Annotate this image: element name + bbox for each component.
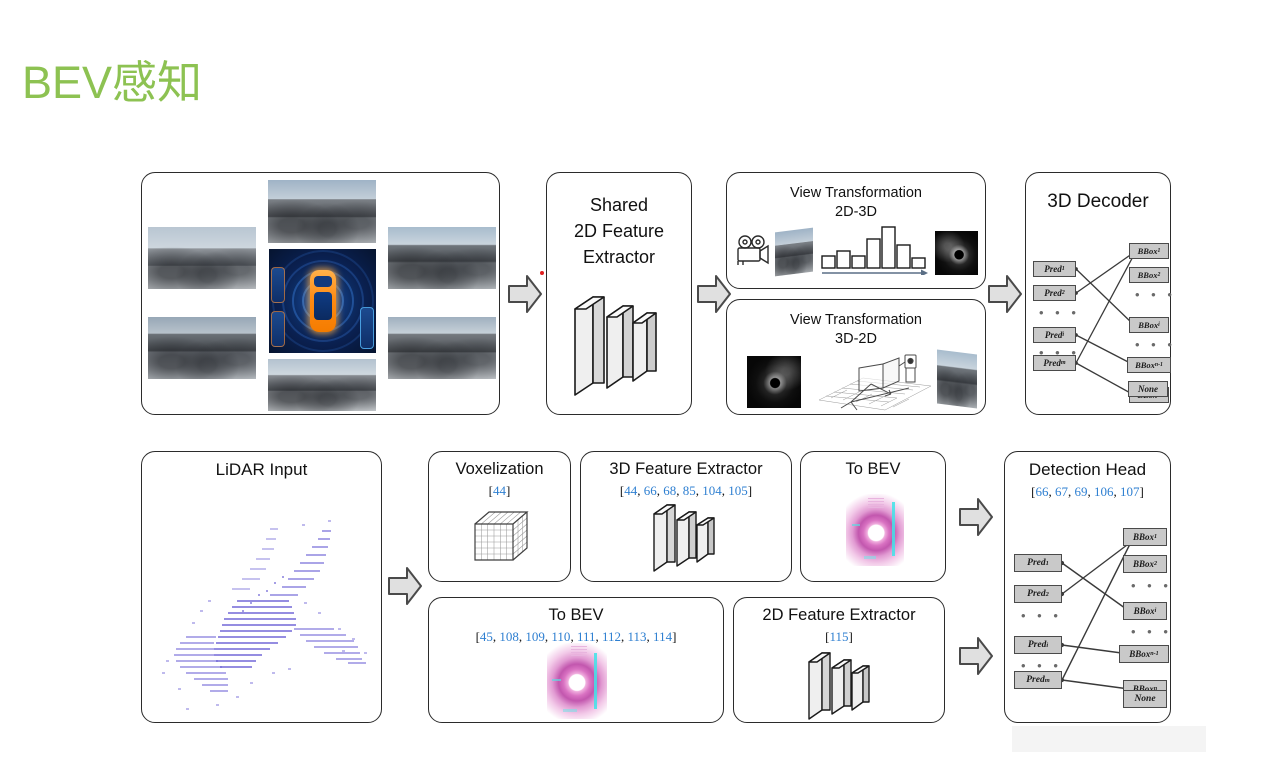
vt-2d3d-title-line1: View Transformation <box>727 185 985 201</box>
background-ghost-rectangle <box>1012 726 1206 752</box>
citation-ref[interactable]: 68 <box>663 483 676 498</box>
bbox-sub: i <box>1158 322 1160 328</box>
bev-heatmap-image <box>547 643 607 719</box>
pred-sub: 2 <box>1046 591 1049 598</box>
pred-label: Pred <box>1027 589 1045 599</box>
citation-ref[interactable]: 112 <box>602 629 621 644</box>
decoder-bbox-chip-3: BBoxi <box>1129 317 1169 333</box>
citation-ref[interactable]: 114 <box>653 629 672 644</box>
bbox-sub: 2 <box>1154 561 1157 567</box>
bbox-sub: 2 <box>1157 272 1160 278</box>
bbox-label: BBox <box>1138 320 1158 330</box>
voxelization-title: Voxelization <box>429 460 570 479</box>
to-bev-bottom-title: To BEV <box>429 606 723 625</box>
3d-decoder-box: 3D Decoder Pred1 Pred2 • • • <box>1025 172 1171 415</box>
3d-extractor-title: 3D Feature Extractor <box>581 460 791 479</box>
vt-3d2d-title-line1: View Transformation <box>727 312 985 328</box>
bbox-sub: 1 <box>1157 248 1160 254</box>
page-title: BEV感知 <box>22 60 202 105</box>
projection-frustum-diagram <box>813 350 937 417</box>
pred-sub: m <box>1045 677 1050 684</box>
camera-image-front <box>268 180 376 243</box>
bbox-label: BBox <box>1138 270 1158 280</box>
arrow-tobev-to-detectionhead <box>959 498 993 536</box>
camera-image-front-left <box>148 227 256 289</box>
2d-extractor-citations: [115] <box>734 629 944 645</box>
pred-sub: i <box>1046 642 1048 649</box>
citation-ref[interactable]: 44 <box>624 483 637 498</box>
decoder-none-chip-visible: None <box>1128 381 1168 397</box>
vt-3d2d-title-line2: 3D-2D <box>727 331 985 347</box>
view-transformation-2d3d-box: View Transformation 2D-3D <box>726 172 986 289</box>
camera-image-back <box>268 359 376 411</box>
pred-sub: 1 <box>1062 266 1065 272</box>
depth-distribution-histogram <box>821 223 929 280</box>
citation-ref[interactable]: 108 <box>499 629 519 644</box>
ego-vehicle-surround-view-graphic <box>269 249 376 353</box>
citation-ref[interactable]: 44 <box>493 483 506 498</box>
citation-ref[interactable]: 104 <box>702 483 722 498</box>
detection-bbox-ellipsis-1: • • • <box>1131 578 1172 593</box>
bbox-sub: n-1 <box>1155 362 1163 368</box>
decoder-pred-ellipsis-1: • • • <box>1039 305 1080 320</box>
pred-label: Pred <box>1044 264 1062 274</box>
2d-feature-extractor-box: 2D Feature Extractor [115] <box>733 597 945 723</box>
detection-pred-chip-1: Pred1 <box>1014 554 1062 572</box>
video-camera-icon <box>735 233 771 272</box>
decoder-bbox-chip-2: BBox2 <box>1129 267 1169 283</box>
pred-sub: i <box>1062 332 1064 338</box>
citation-ref[interactable]: 45 <box>480 629 493 644</box>
shared-2d-feature-extractor-box: Shared 2D Feature Extractor <box>546 172 692 415</box>
detection-bbox-chip-2: BBox2 <box>1123 555 1167 573</box>
decoder-pred-chip-2: Pred2 <box>1033 285 1076 301</box>
detection-pred-chip-4: Predm <box>1014 671 1062 689</box>
pred-label: Pred <box>1028 640 1046 650</box>
pred-sub: 2 <box>1062 290 1065 296</box>
detection-bbox-chip-3: BBoxi <box>1123 602 1167 620</box>
citation-ref[interactable]: 109 <box>525 629 545 644</box>
multi-camera-panel <box>141 172 500 415</box>
detection-pred-chip-3: Predi <box>1014 636 1062 654</box>
camera-image-back-right <box>388 317 496 379</box>
arrow-viewtransform-to-decoder <box>988 275 1022 313</box>
detection-none-chip: None <box>1123 690 1167 708</box>
camera-image-thumbnail <box>775 228 813 277</box>
citation-ref[interactable]: 113 <box>628 629 647 644</box>
pred-label: Pred <box>1044 288 1062 298</box>
decoder-bbox-chip-1: BBox1 <box>1129 243 1169 259</box>
bev-lidar-image-2 <box>747 356 801 408</box>
detection-bbox-chip-1: BBox1 <box>1123 528 1167 546</box>
voxelization-box: Voxelization [44] <box>428 451 571 582</box>
bbox-label: BBox <box>1138 246 1158 256</box>
decoder-bbox-ellipsis-2: • • • <box>1135 337 1176 352</box>
bbox-label: BBox <box>1134 606 1155 616</box>
bbox-sub: 1 <box>1154 534 1157 540</box>
camera-image-thumbnail-2 <box>937 350 977 409</box>
detection-pred-chip-2: Pred2 <box>1014 585 1062 603</box>
decoder-bbox-ellipsis-1: • • • <box>1135 287 1176 302</box>
arrow-2dextractor-to-detectionhead <box>959 637 993 675</box>
shared-extractor-title-line1: Shared <box>547 195 691 216</box>
pred-label: Pred <box>1043 358 1061 368</box>
arrow-cameras-to-extractor <box>508 275 542 313</box>
slide-canvas: BEV感知 Sh <box>0 0 1261 760</box>
pred-label: Pred <box>1027 558 1045 568</box>
bbox-sub: i <box>1155 608 1157 614</box>
bev-heatmap-image <box>846 494 904 566</box>
decoder-pred-chip-4: Predm <box>1033 355 1076 371</box>
citation-ref[interactable]: 111 <box>577 629 596 644</box>
cnn-layer-stack-icon <box>651 500 727 581</box>
bbox-label: BBox <box>1129 649 1150 659</box>
detection-pred-ellipsis-1: • • • <box>1021 608 1062 623</box>
shared-extractor-title-line2: 2D Feature <box>547 221 691 242</box>
cnn-layer-stack-icon <box>806 648 882 729</box>
decoder-bbox-chip-4: BBoxn-1 <box>1127 357 1171 373</box>
pred-sub: m <box>1061 360 1066 366</box>
camera-image-front-right <box>388 227 496 289</box>
camera-image-back-left <box>148 317 256 379</box>
pred-sub: 1 <box>1046 560 1049 567</box>
detection-head-box: Detection Head [66, 67, 69, 106, 107] Pr… <box>1004 451 1171 723</box>
bbox-label: BBox <box>1133 559 1154 569</box>
shared-extractor-title-line3: Extractor <box>547 247 691 268</box>
2d-extractor-title: 2D Feature Extractor <box>734 606 944 625</box>
bbox-label: BBox <box>1135 360 1155 370</box>
detection-bbox-ellipsis-2: • • • <box>1131 624 1172 639</box>
to-bev-bottom-box: To BEV [45, 108, 109, 110, 111, 112, 113… <box>428 597 724 723</box>
bbox-sub: n-1 <box>1150 651 1159 657</box>
cnn-layer-stack-icon <box>571 291 671 408</box>
voxelization-citations: [44] <box>429 483 570 499</box>
view-transformation-3d2d-box: View Transformation 3D-2D <box>726 299 986 415</box>
bev-lidar-image <box>935 231 978 275</box>
lidar-point-cloud <box>142 482 383 727</box>
voxel-grid-cube-icon <box>461 504 543 581</box>
to-bev-top-title: To BEV <box>801 460 945 479</box>
pred-label: Pred <box>1026 675 1044 685</box>
lidar-input-box: LiDAR Input <box>141 451 382 723</box>
pred-label: Pred <box>1045 330 1063 340</box>
decoder-pred-chip-3: Predi <box>1033 327 1076 343</box>
citation-ref[interactable]: 105 <box>728 483 748 498</box>
bbox-label: BBox <box>1133 532 1154 542</box>
decoder-pred-chip-1: Pred1 <box>1033 261 1076 277</box>
citation-ref[interactable]: 110 <box>551 629 570 644</box>
citation-ref[interactable]: 115 <box>829 629 848 644</box>
detection-bbox-chip-4: BBoxn-1 <box>1119 645 1169 663</box>
vt-2d3d-title-line2: 2D-3D <box>727 204 985 220</box>
to-bev-top-box: To BEV <box>800 451 946 582</box>
3d-feature-extractor-box: 3D Feature Extractor [44, 66, 68, 85, 10… <box>580 451 792 582</box>
citation-ref[interactable]: 85 <box>683 483 696 498</box>
3d-extractor-citations: [44, 66, 68, 85, 104, 105] <box>581 483 791 499</box>
citation-ref[interactable]: 66 <box>644 483 657 498</box>
lidar-input-title: LiDAR Input <box>142 460 381 480</box>
arrow-lidar-to-voxelization <box>388 567 422 605</box>
